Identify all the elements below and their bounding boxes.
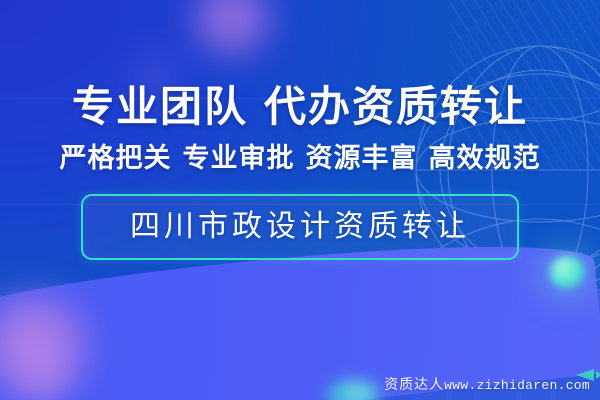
subheadline-part-2: 专业审批 (183, 143, 295, 173)
headline-part-1: 专业团队 (72, 83, 248, 130)
subheadline: 严格把关专业审批资源丰富高效规范 (60, 145, 541, 172)
watermark-brand: 资质达人 (384, 378, 444, 393)
subheadline-part-3: 资源丰富 (306, 143, 418, 173)
watermark-url: www.zizhidaren.com (444, 378, 590, 393)
subheadline-part-4: 高效规范 (429, 143, 541, 173)
highlight-box[interactable]: 四川市政设计资质转让 (81, 194, 519, 260)
headline-part-2: 代办资质转让 (264, 83, 528, 130)
banner-content: 专业团队代办资质转让 严格把关专业审批资源丰富高效规范 四川市政设计资质转让 (0, 0, 600, 400)
headline: 专业团队代办资质转让 (72, 86, 528, 128)
watermark: 资质达人www.zizhidaren.com (384, 374, 590, 394)
highlight-box-label: 四川市政设计资质转让 (130, 212, 470, 242)
subheadline-part-1: 严格把关 (60, 143, 172, 173)
promo-banner: 专业团队代办资质转让 严格把关专业审批资源丰富高效规范 四川市政设计资质转让 资… (0, 0, 600, 400)
